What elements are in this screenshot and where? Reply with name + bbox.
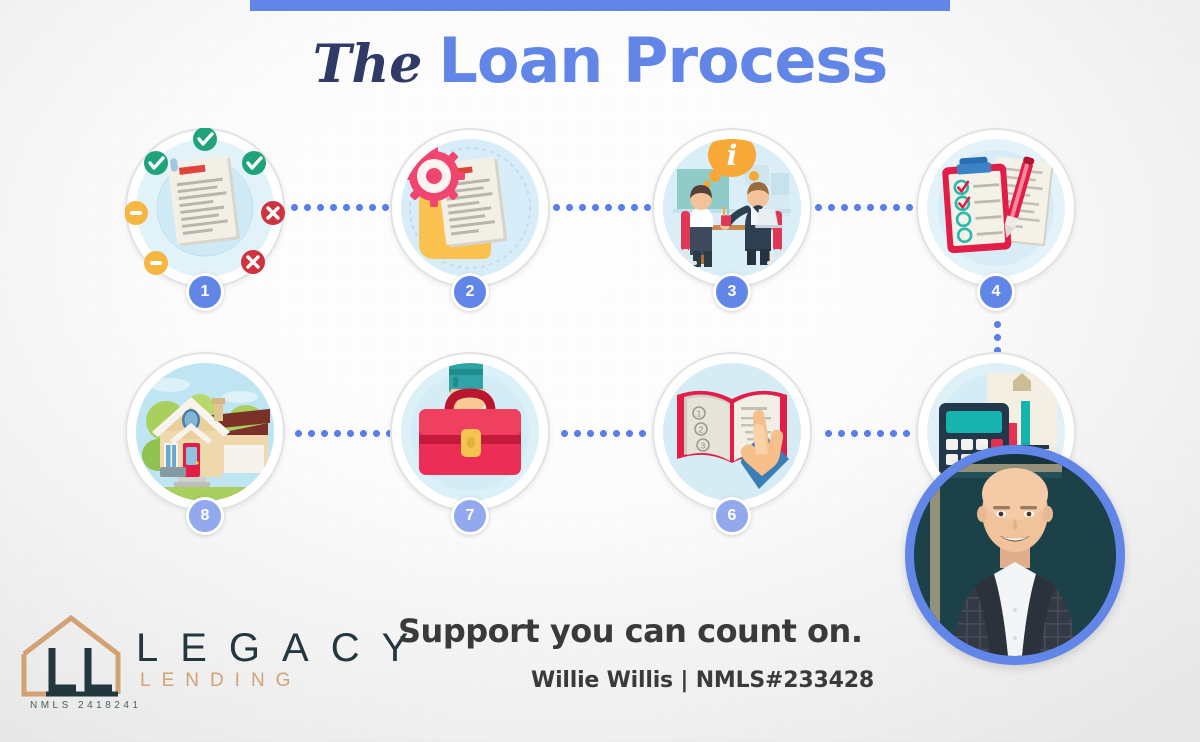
checklist-clipboard-icon bbox=[927, 139, 1065, 277]
step-1-status-markers bbox=[125, 128, 285, 288]
avatar bbox=[905, 445, 1125, 665]
svg-text:1: 1 bbox=[697, 410, 702, 419]
step-2-badge: 2 bbox=[451, 273, 489, 311]
svg-text:2: 2 bbox=[699, 426, 704, 435]
step-4-badge: 4 bbox=[977, 273, 1015, 311]
step-6-disc: 1 2 3 bbox=[663, 363, 801, 501]
step-4[interactable]: 4 bbox=[916, 128, 1076, 288]
step-6[interactable]: 1 2 3 bbox=[652, 352, 812, 512]
step-7-badge: 7 bbox=[451, 497, 489, 535]
step-3-disc: i bbox=[663, 139, 801, 277]
connector-step3-step4 bbox=[812, 204, 918, 211]
hand-briefcase-icon bbox=[401, 363, 539, 501]
loan-officer-portrait bbox=[914, 454, 1116, 656]
title-prefix: The bbox=[313, 34, 423, 95]
logo-brand-text: LEGACY bbox=[136, 626, 430, 671]
top-accent-bar bbox=[250, 0, 950, 11]
open-book-pointing-hand-icon: 1 2 3 bbox=[663, 363, 801, 501]
svg-text:i: i bbox=[727, 139, 738, 172]
logo-nmls-text: NMLS 2418241 bbox=[30, 700, 142, 711]
svg-text:3: 3 bbox=[701, 442, 706, 451]
step-7-disc bbox=[401, 363, 539, 501]
agent-credentials: Willie Willis | NMLS#233428 bbox=[531, 668, 874, 693]
step-3-badge: 3 bbox=[713, 273, 751, 311]
connector-step1-step2 bbox=[288, 204, 396, 211]
step-7[interactable]: 7 bbox=[390, 352, 550, 512]
step-2-disc bbox=[401, 139, 539, 277]
connector-step5-step6 bbox=[822, 430, 920, 437]
document-processing-gear-icon bbox=[401, 139, 539, 277]
connector-step7-step8 bbox=[292, 430, 390, 437]
loan-process-infographic: TheLoan Process bbox=[0, 0, 1200, 742]
title-main: Loan Process bbox=[438, 24, 887, 97]
connector-step2-step3 bbox=[550, 204, 656, 211]
step-8[interactable]: 8 bbox=[125, 352, 285, 512]
step-8-badge: 8 bbox=[186, 497, 224, 535]
logo-subtitle-text: LENDING bbox=[140, 670, 301, 692]
consultation-meeting-icon: i bbox=[663, 139, 801, 277]
legacy-house-mark-icon bbox=[16, 612, 126, 704]
step-8-disc bbox=[136, 363, 274, 501]
step-4-disc bbox=[927, 139, 1065, 277]
step-2[interactable]: 2 bbox=[390, 128, 550, 288]
step-6-badge: 6 bbox=[713, 497, 751, 535]
step-1-badge: 1 bbox=[186, 273, 224, 311]
step-1[interactable]: 1 bbox=[125, 128, 285, 288]
step-3[interactable]: i bbox=[652, 128, 812, 288]
connector-step6-step7 bbox=[558, 430, 654, 437]
page-title: TheLoan Process bbox=[0, 24, 1200, 97]
tagline: Support you can count on. bbox=[398, 612, 862, 650]
house-home-icon bbox=[136, 363, 274, 501]
